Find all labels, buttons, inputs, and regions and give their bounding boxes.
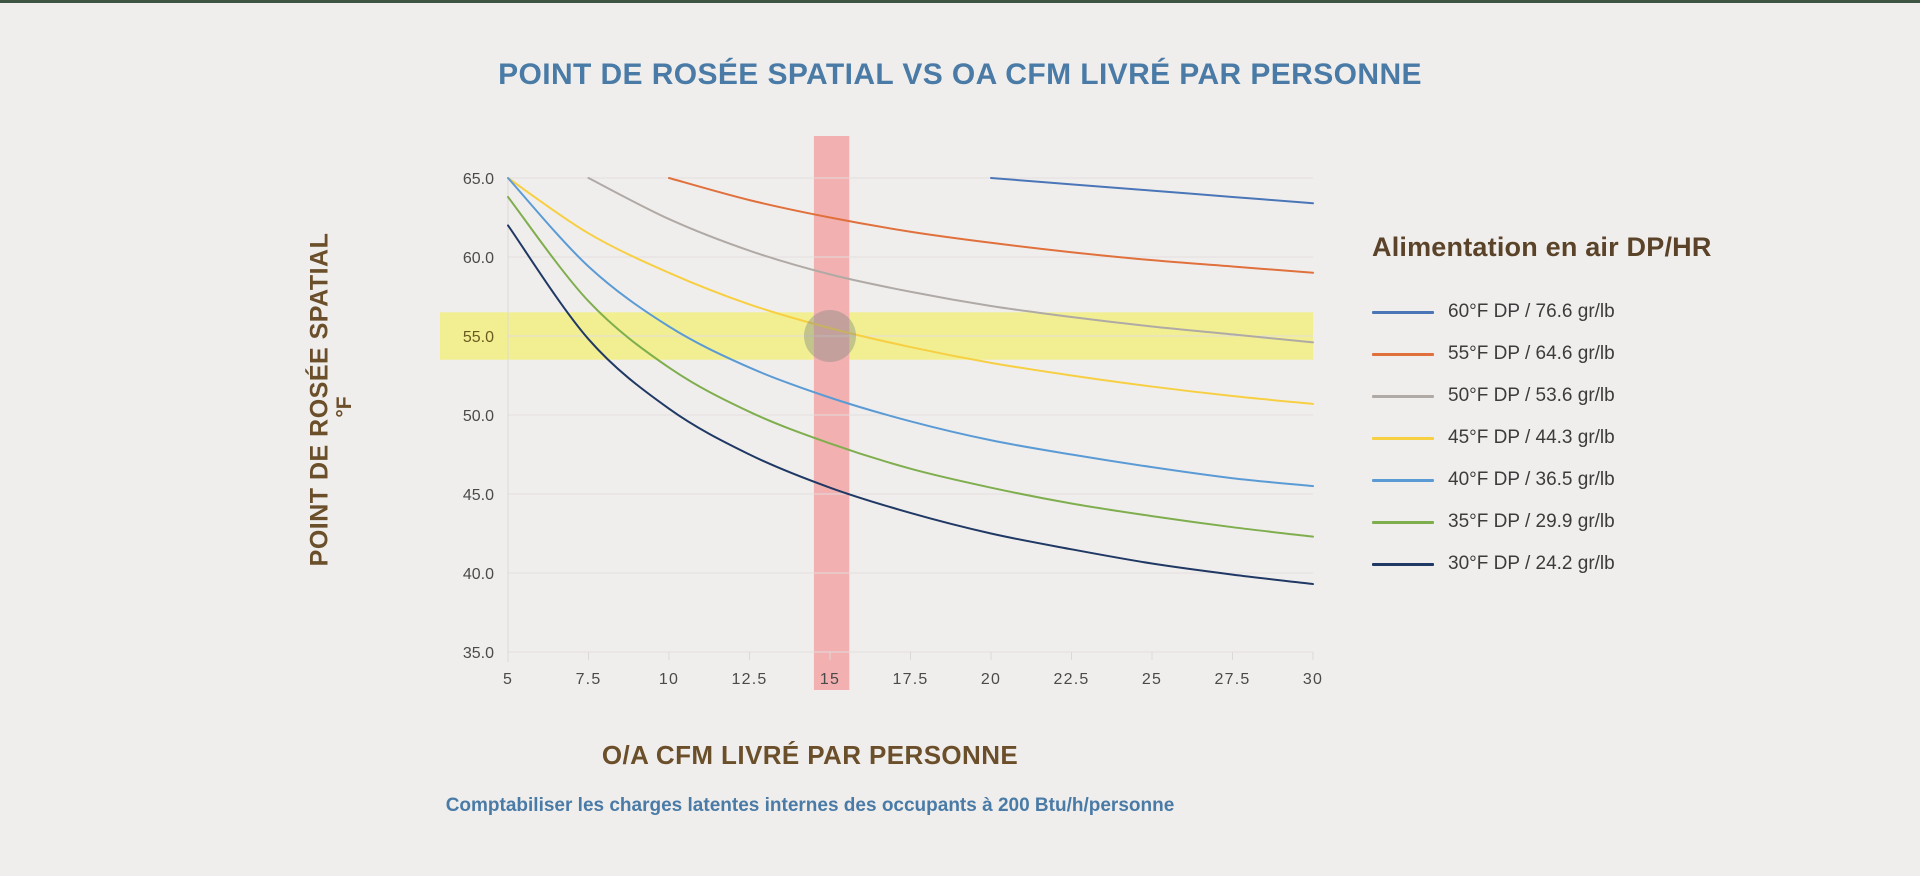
x-tick-label: 30 [1303,671,1323,688]
legend-rows: 60°F DP / 76.6 gr/lb55°F DP / 64.6 gr/lb… [1372,291,1892,585]
x-tick-label: 22.5 [1054,671,1090,688]
legend-color-swatch [1372,311,1434,314]
legend-item-label: 55°F DP / 64.6 gr/lb [1448,343,1615,365]
legend-item[interactable]: 30°F DP / 24.2 gr/lb [1372,543,1892,585]
legend-swatch-wrap [1372,479,1448,482]
x-axis-ticks: 57.51012.51517.52022.52527.530 [503,671,1323,688]
legend-color-swatch [1372,563,1434,566]
legend-item[interactable]: 60°F DP / 76.6 gr/lb [1372,291,1892,333]
x-tick-label: 27.5 [1215,671,1251,688]
legend-color-swatch [1372,437,1434,440]
legend-color-swatch [1372,479,1434,482]
legend-swatch-wrap [1372,395,1448,398]
legend-item[interactable]: 35°F DP / 29.9 gr/lb [1372,501,1892,543]
y-tick-label: 35.0 [463,645,494,662]
x-tick-label: 15 [820,671,840,688]
x-tick-label: 17.5 [893,671,929,688]
design-point-marker [804,310,856,362]
top-accent-rule [0,0,1920,3]
plot-area: 35.040.045.050.055.060.065.0 57.51012.51… [0,130,1400,690]
x-axis-title: O/A CFM LIVRÉ PAR PERSONNE [380,740,1240,771]
y-tick-label: 50.0 [463,408,494,425]
series-line [991,178,1313,203]
legend-item[interactable]: 50°F DP / 53.6 gr/lb [1372,375,1892,417]
legend-item-label: 35°F DP / 29.9 gr/lb [1448,511,1615,533]
x-tick-label: 25 [1142,671,1162,688]
x-tick-label: 7.5 [576,671,602,688]
legend-item-label: 30°F DP / 24.2 gr/lb [1448,553,1615,575]
series-line [508,225,1313,584]
chart-svg: 35.040.045.050.055.060.065.0 57.51012.51… [0,130,1400,690]
legend-item[interactable]: 55°F DP / 64.6 gr/lb [1372,333,1892,375]
intersection-marker [804,310,856,362]
legend-swatch-wrap [1372,353,1448,356]
legend-item-label: 60°F DP / 76.6 gr/lb [1448,301,1615,323]
chart-footnote: Comptabiliser les charges latentes inter… [280,795,1340,817]
legend-item-label: 40°F DP / 36.5 gr/lb [1448,469,1615,491]
vertical-highlight-band [814,136,849,690]
legend-color-swatch [1372,353,1434,356]
legend-swatch-wrap [1372,437,1448,440]
legend-swatch-wrap [1372,311,1448,314]
legend-item[interactable]: 40°F DP / 36.5 gr/lb [1372,459,1892,501]
gridlines [508,178,1313,662]
legend-item[interactable]: 45°F DP / 44.3 gr/lb [1372,417,1892,459]
y-axis-ticks: 35.040.045.050.055.060.065.0 [463,171,494,662]
legend-title: Alimentation en air DP/HR [1372,232,1892,263]
x-tick-label: 10 [659,671,679,688]
y-tick-label: 65.0 [463,171,494,188]
y-tick-label: 45.0 [463,487,494,504]
page-title: POINT DE ROSÉE SPATIAL VS OA CFM LIVRÉ P… [0,58,1920,92]
legend-item-label: 45°F DP / 44.3 gr/lb [1448,427,1615,449]
series-lines [508,178,1313,584]
legend-color-swatch [1372,521,1434,524]
x-tick-label: 12.5 [732,671,768,688]
legend-swatch-wrap [1372,521,1448,524]
legend: Alimentation en air DP/HR 60°F DP / 76.6… [1372,232,1892,585]
series-line [669,178,1313,273]
y-tick-label: 40.0 [463,566,494,583]
legend-color-swatch [1372,395,1434,398]
legend-swatch-wrap [1372,563,1448,566]
legend-item-label: 50°F DP / 53.6 gr/lb [1448,385,1615,407]
y-tick-label: 60.0 [463,250,494,267]
chart-page: POINT DE ROSÉE SPATIAL VS OA CFM LIVRÉ P… [0,0,1920,876]
highlight-bands [440,136,1313,690]
x-tick-label: 5 [503,671,513,688]
x-tick-label: 20 [981,671,1001,688]
y-tick-label: 55.0 [463,329,494,346]
series-line [508,197,1313,537]
